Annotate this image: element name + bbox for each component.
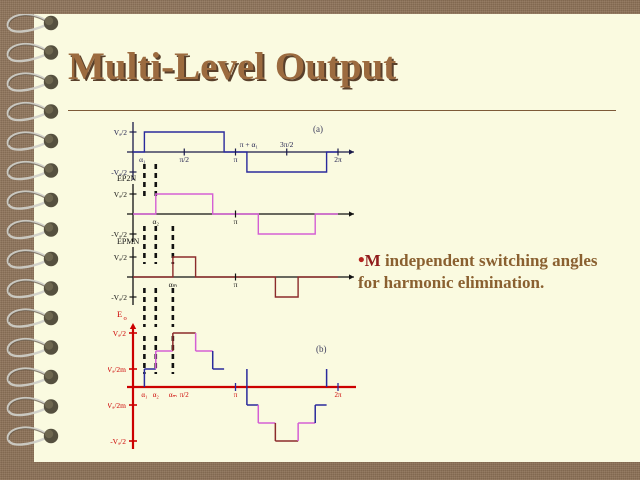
bullet-marker: • <box>358 250 365 271</box>
x-tick-label: π/2 <box>179 155 189 164</box>
x-tick-label: α₂ <box>152 217 159 226</box>
x-tick-label: π <box>234 155 238 164</box>
panel-b-tag: (b) <box>316 344 327 354</box>
y-tick-label: Vₐ/2 <box>114 128 128 137</box>
x-tick-label: π/2 <box>180 391 189 399</box>
x-tick-label: 2π <box>334 391 342 399</box>
x-tick-label: 2π <box>334 155 342 164</box>
waveform-svg: Vₐ/2-Vₐ/2EP1NVₐ/2-Vₐ/2EP2NVₐ/2-Vₐ/2EPMNπ… <box>108 122 356 452</box>
multilevel-waveform-figure: Vₐ/2-Vₐ/2EP1NVₐ/2-Vₐ/2EP2NVₐ/2-Vₐ/2EPMNπ… <box>108 122 356 452</box>
x-tick-label: π <box>234 217 238 226</box>
waveform-name-label: EPMN <box>117 237 139 246</box>
waveform-name-label: EP2N <box>117 174 136 183</box>
x-tick-label-alpha1: α₁ <box>139 155 146 164</box>
x-tick-label: π <box>234 280 238 289</box>
y-tick-label: Vₐ/2 <box>114 253 128 262</box>
x-tick-label: αₘ <box>169 280 178 289</box>
x-tick-label: αₘ <box>169 391 177 399</box>
x-tick-label: π <box>234 391 238 399</box>
waveform-name-sub: o <box>124 315 127 322</box>
x-tick-label-pi-plus-alpha1: π + α₁ <box>240 140 259 149</box>
x-axis-arrow <box>349 149 354 154</box>
bullet-body-text: independent switching angles for harmoni… <box>358 251 598 292</box>
slide-canvas: Multi-Level Output •M independent switch… <box>0 0 640 480</box>
waveform-name-label: E <box>117 309 122 319</box>
y-tick-label: Vₐ/2 <box>114 190 128 199</box>
y-tick-label: Vₐ/2m <box>108 365 126 374</box>
y-axis-arrow <box>130 323 136 329</box>
spiral-binding-icon <box>0 14 74 466</box>
x-tick-label: 3π/2 <box>280 140 294 149</box>
panel-a-tag: (a) <box>313 124 323 134</box>
y-tick-label: -Vₐ/2 <box>110 437 126 446</box>
page-title: Multi-Level Output <box>68 44 396 89</box>
x-tick-label: α₁ <box>141 391 147 399</box>
bullet-text-block: •M independent switching angles for harm… <box>358 250 616 294</box>
x-axis-arrow <box>349 211 354 216</box>
bullet-lead-word: M <box>365 251 381 270</box>
title-divider <box>68 110 616 111</box>
y-tick-label: -Vₐ/2 <box>111 293 127 302</box>
y-tick-label: -Vₐ/2m <box>108 401 126 410</box>
x-tick-label: α₂ <box>153 391 160 399</box>
y-tick-label: Vₐ/2 <box>113 329 127 338</box>
x-axis-arrow <box>349 274 354 279</box>
